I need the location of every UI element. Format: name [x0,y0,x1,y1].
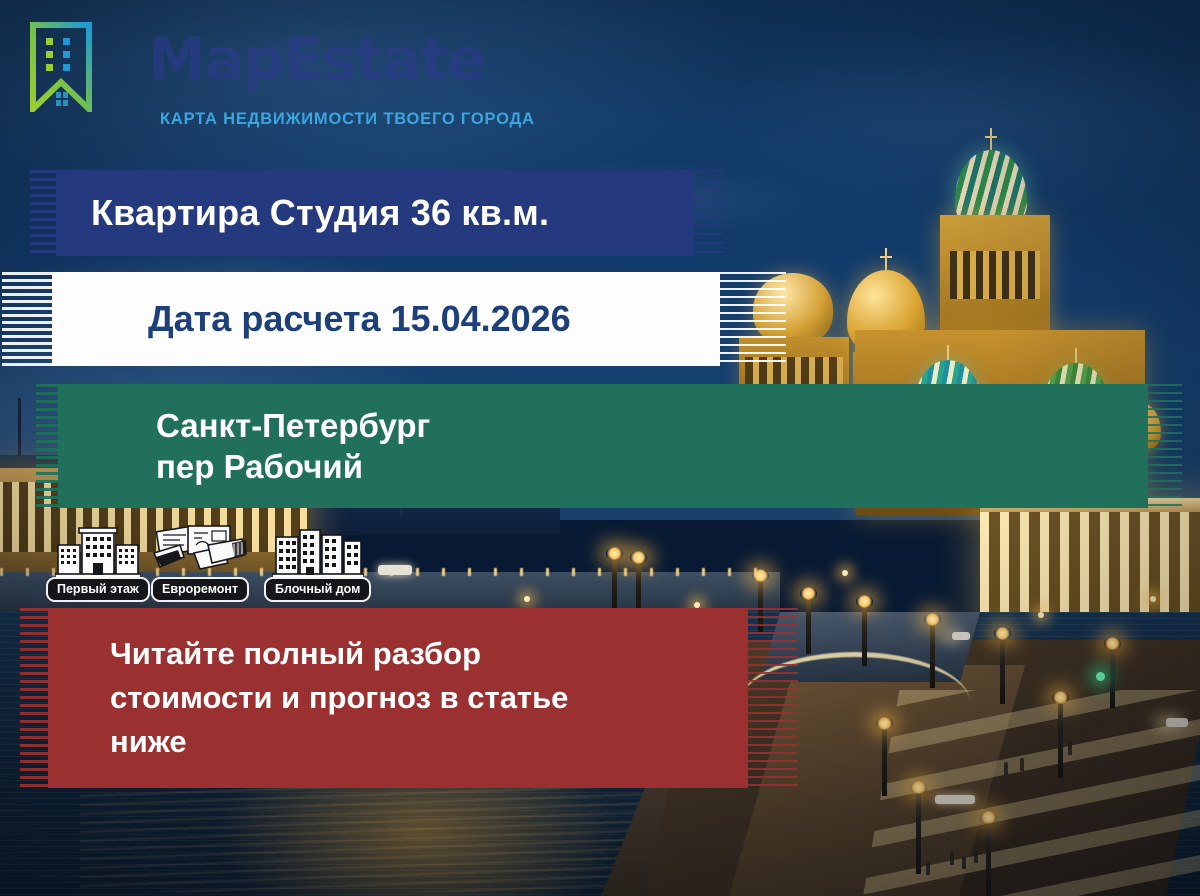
light-point [1038,612,1044,618]
pedestrian-icon [1068,742,1072,755]
street-lamp-icon [636,560,641,612]
street-lamp-icon [612,556,617,612]
call-to-action-band: Читайте полный разбор стоимости и прогно… [48,608,748,788]
badge-euro-renovation[interactable]: Евроремонт [151,577,249,602]
light-point [1150,596,1156,602]
road-lane-markings [861,690,1200,896]
badge-panel-house[interactable]: Блочный дом [264,577,371,602]
property-promo-poster: MapEstate КАРТА НЕДВИЖИМОСТИ ТВОЕГО ГОРО… [0,0,1200,896]
car-icon [1166,718,1188,727]
traffic-light-green-icon [1096,672,1105,681]
brand-wordmark: MapEstate [148,30,485,88]
property-title-band: Квартира Студия 36 кв.м. [56,170,694,256]
calculation-date-text: Дата расчета 15.04.2026 [148,298,571,340]
apartment-block-icon [55,527,141,584]
car-icon [952,632,970,640]
calculation-date-band: Дата расчета 15.04.2026 [52,272,720,366]
light-point [842,570,848,576]
pedestrian-icon [962,856,966,869]
street-lamp-icon [806,596,811,654]
cta-line-1: Читайте полный разбор [110,632,481,676]
pedestrian-icon [1058,738,1062,751]
badge-panel-house-label: Блочный дом [264,577,371,602]
street-lamp-icon [1110,646,1115,708]
pedestrian-icon [950,852,954,865]
street-lamp-icon [916,790,921,874]
badge-first-floor[interactable]: Первый этаж [46,577,150,602]
boat-icon [378,565,412,575]
property-title-text: Квартира Студия 36 кв.м. [91,192,549,234]
cta-line-2: стоимости и прогноз в статье [110,676,568,720]
boat-icon [935,795,975,804]
pedestrian-icon [1020,758,1024,771]
light-point [524,596,530,602]
renovation-blueprint-icon [150,523,250,584]
bookmark-building-icon [30,22,92,112]
location-city-text: Санкт-Петербург [156,405,430,446]
pedestrian-icon [974,850,978,863]
pedestrian-icon [926,862,930,875]
cta-line-3: ниже [110,720,187,764]
street-lamp-icon [882,726,887,796]
location-street-text: пер Рабочий [156,446,363,487]
pedestrian-icon [1004,762,1008,775]
brand-logo[interactable]: MapEstate КАРТА НЕДВИЖИМОСТИ ТВОЕГО ГОРО… [30,22,530,122]
street-lamp-icon [930,622,935,688]
street-lamp-icon [862,604,867,666]
panel-house-icon [272,527,364,584]
property-feature-badges: Первый этаж [46,516,376,602]
badge-euro-renovation-label: Евроремонт [151,577,249,602]
location-band: Санкт-Петербург пер Рабочий [58,384,1148,508]
brand-tagline: КАРТА НЕДВИЖИМОСТИ ТВОЕГО ГОРОДА [160,110,535,129]
street-lamp-icon [1000,636,1005,704]
badge-first-floor-label: Первый этаж [46,577,150,602]
street-lamp-icon [986,820,991,896]
distant-spire-icon [18,398,21,456]
